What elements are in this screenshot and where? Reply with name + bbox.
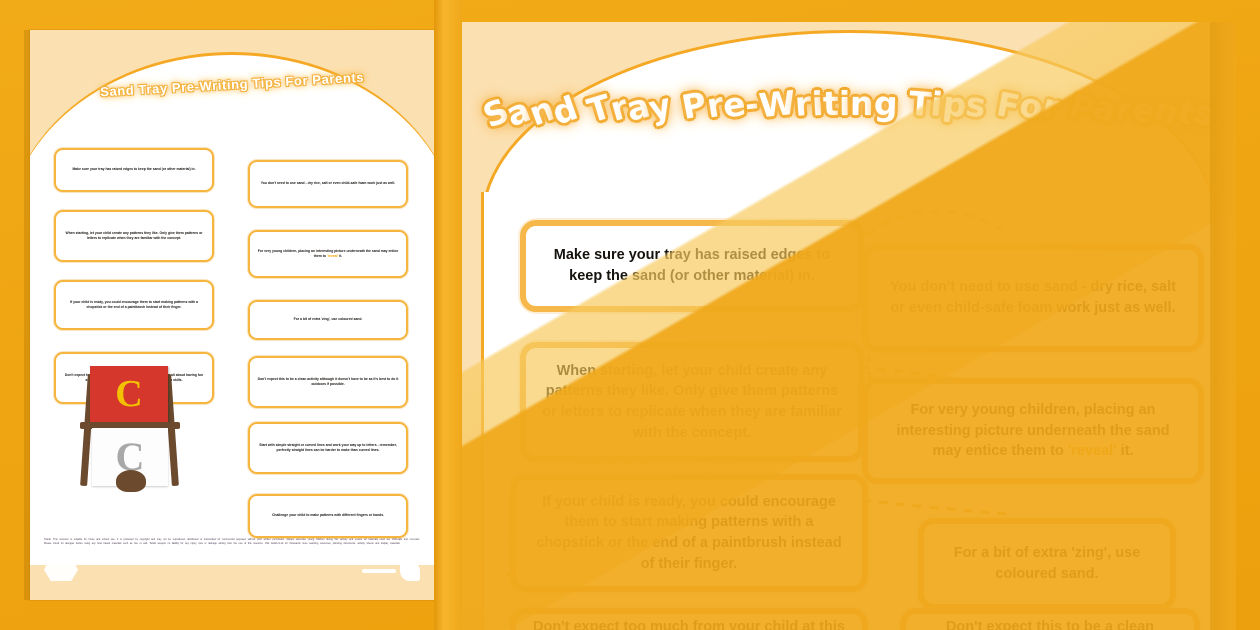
tip-text-not-too-much: Don't expect too much from your child at… [530,617,848,630]
tip-text-coloured-sand: For a bit of extra 'zing', use coloured … [938,543,1156,584]
thumb-tip-hidden-picture: For very young children, placing an inte… [248,230,408,278]
wordmark-mark-icon [400,561,420,581]
hand-icon [116,470,146,492]
panel-divider [434,0,462,630]
thumb-tip-chopstick: If your child is ready, you could encour… [54,280,214,330]
tip-text-clean-activity: Don't expect this to be a clean activity… [920,617,1180,630]
letter-card-icon: C [90,366,168,422]
wordmark-bar-icon [362,569,396,573]
thumb-tip-free-patterns: When starting, let your child create any… [54,210,214,262]
thumb-tip-alternatives: You don't need to use sand - dry rice, s… [248,160,408,208]
tip-card-not-too-much[interactable]: Don't expect too much from your child at… [510,608,868,630]
tip-card-alternatives[interactable]: You don't need to use sand - dry rice, s… [862,244,1204,352]
thumb-tip-raised-edges: Make sure your tray has raised edges to … [54,148,214,192]
tip-card-clean-activity[interactable]: Don't expect this to be a clean activity… [900,608,1200,630]
poster-thumbnail-preview[interactable]: Sand Tray Pre-Writing Tips For Parents M… [30,30,434,600]
tip-text-hidden-picture-highlight: 'reveal' [1068,443,1117,459]
tip-text-hidden-picture-after: it. [1117,443,1134,459]
letter-card-glyph: C [115,377,142,411]
twinkl-badge-icon [44,561,78,581]
thumbnail-footer: Twinkl. This resource is suitable for ho… [44,538,420,546]
thumb-tip-fingers-hands: Challenge your child to make patterns wi… [248,494,408,538]
thumbnail-tip-grid: Make sure your tray has raised edges to … [30,30,434,600]
thumb-tip-coloured-sand: For a bit of extra 'zing', use coloured … [248,300,408,340]
thumb-tip-hidden-picture-after: it. [338,254,342,258]
tip-card-hidden-picture[interactable]: For very young children, placing an inte… [862,378,1204,484]
easel-illustration: C C [72,366,190,488]
tip-text-raised-edges: Make sure your tray has raised edges to … [540,245,844,286]
poster-right-edge [1210,22,1236,630]
thumb-tip-straight-lines: Start with simple straight or curved lin… [248,422,408,474]
twinkl-wordmark-icon [362,561,420,581]
tip-text-free-patterns: When starting, let your child create any… [540,361,844,443]
sand-letter-glyph: C [116,440,145,474]
tip-card-chopstick[interactable]: If your child is ready, you could encour… [510,474,868,592]
tip-text-chopstick: If your child is ready, you could encour… [530,492,848,574]
poster-tip-grid: Make sure your tray has raised edges to … [462,22,1236,630]
thumb-tip-clean-activity: Don't expect this to be a clean activity… [248,356,408,408]
poster-main-view[interactable]: Sand Tray Pre-Writing Tips For Parents M… [462,22,1236,630]
tip-card-coloured-sand[interactable]: For a bit of extra 'zing', use coloured … [918,518,1176,610]
thumbnail-logo-row [44,556,420,586]
tip-text-alternatives: You don't need to use sand - dry rice, s… [882,277,1184,318]
footer-legal-text: Twinkl. This resource is suitable for ho… [44,538,420,546]
tip-card-raised-edges[interactable]: Make sure your tray has raised edges to … [520,220,864,312]
thumb-tip-hidden-picture-highlight: 'reveal' [327,254,338,258]
tip-card-free-patterns[interactable]: When starting, let your child create any… [520,342,864,462]
